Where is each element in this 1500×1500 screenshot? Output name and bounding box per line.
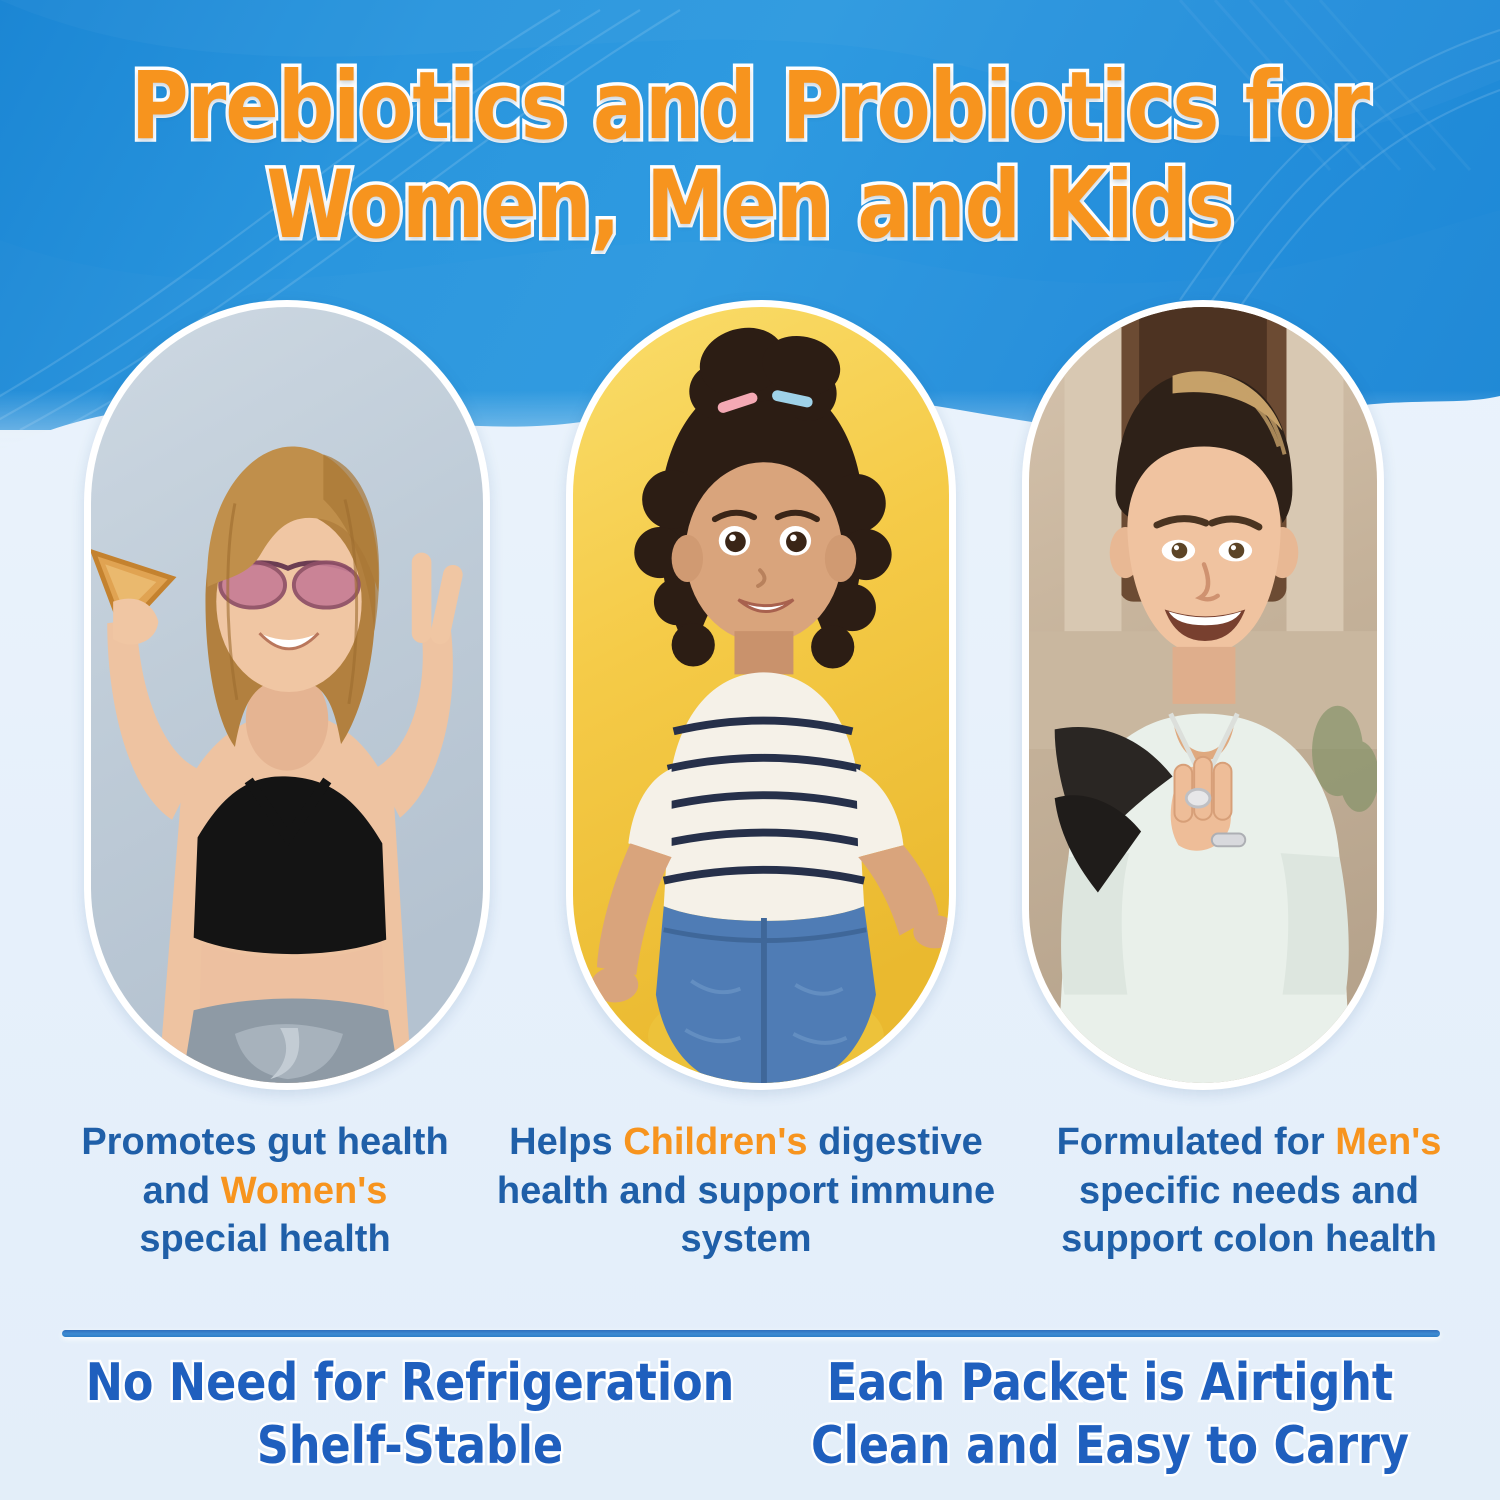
caption-women-connector: and <box>143 1170 221 1212</box>
footer-benefit-right: Each Packet is Airtight Clean and Easy t… <box>778 1352 1443 1479</box>
headline: Prebiotics and Probiotics for Women, Men… <box>0 58 1500 255</box>
caption-men-highlight: Men's <box>1335 1121 1441 1163</box>
footer-right-line-1: Each Packet is Airtight <box>778 1352 1443 1415</box>
caption-women-pre: Promotes gut health <box>81 1121 448 1163</box>
caption-men-pre: Formulated for <box>1057 1121 1336 1163</box>
woman-illustration <box>91 307 483 1083</box>
caption-children-highlight: Children's <box>623 1121 807 1163</box>
footer-left-line-2: Shelf-Stable <box>78 1415 743 1478</box>
child-illustration <box>573 307 949 1083</box>
footer-right-line-2: Clean and Easy to Carry <box>778 1415 1443 1478</box>
caption-children: Helps Children's digestive health and su… <box>486 1118 1006 1264</box>
headline-line-1: Prebiotics and Probiotics for <box>53 58 1448 157</box>
footer-left-line-1: No Need for Refrigeration <box>78 1352 743 1415</box>
caption-men: Formulated for Men's specific needs and … <box>1014 1118 1484 1264</box>
headline-line-2: Women, Men and Kids <box>53 157 1448 256</box>
persona-photo-women <box>91 307 483 1083</box>
caption-men-post: specific needs and support colon health <box>1061 1170 1437 1261</box>
section-divider <box>62 1330 1440 1337</box>
persona-card-men[interactable] <box>1022 300 1384 1090</box>
footer-benefit-left: No Need for Refrigeration Shelf-Stable <box>78 1352 743 1479</box>
product-infographic: Prebiotics and Probiotics for Women, Men… <box>0 0 1500 1500</box>
caption-children-pre: Helps <box>509 1121 623 1163</box>
caption-women-post: special health <box>139 1218 390 1260</box>
footer-benefits: No Need for Refrigeration Shelf-Stable E… <box>0 1352 1500 1500</box>
caption-women-highlight: Women's <box>221 1170 388 1212</box>
persona-photo-children <box>573 307 949 1083</box>
man-illustration <box>1029 307 1377 1083</box>
caption-row: Promotes gut health and Women's special … <box>0 1118 1500 1298</box>
persona-card-women[interactable] <box>84 300 490 1090</box>
caption-women: Promotes gut health and Women's special … <box>30 1118 500 1264</box>
persona-card-children[interactable] <box>566 300 956 1090</box>
persona-photo-men <box>1029 307 1377 1083</box>
